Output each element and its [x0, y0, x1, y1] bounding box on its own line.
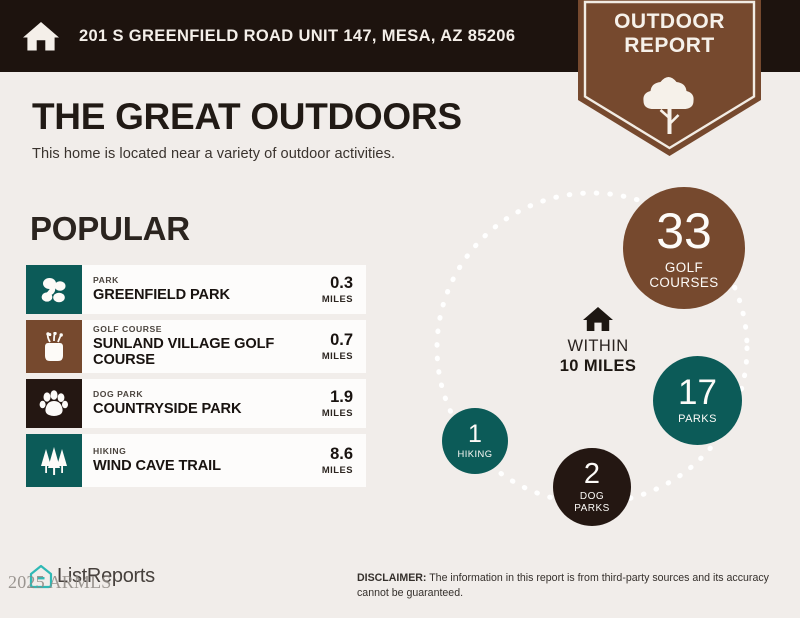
distance-unit: MILES [322, 350, 353, 361]
outdoor-report-badge: OUTDOOR REPORT [578, 0, 761, 156]
list-item-category: GOLF COURSE [93, 324, 300, 335]
list-item[interactable]: GOLF COURSE SUNLAND VILLAGE GOLF COURSE … [26, 320, 366, 373]
list-item-category: PARK [93, 275, 300, 286]
popular-list: PARK GREENFIELD PARK 0.3 MILES [26, 265, 366, 493]
trees-icon-tile [26, 434, 82, 487]
disclaimer: DISCLAIMER: The information in this repo… [357, 571, 777, 601]
bubble-parks[interactable]: 17 PARKS [653, 356, 742, 445]
list-item[interactable]: HIKING WIND CAVE TRAIL 8.6 MILES [26, 434, 366, 487]
list-item-distance: 8.6 MILES [300, 434, 366, 487]
bubble-label-line-1: GOLF [665, 260, 703, 275]
distance-unit: MILES [322, 293, 353, 304]
bubble-label-line-2: PARKS [574, 503, 609, 514]
park-icon [39, 276, 69, 304]
list-item-category: HIKING [93, 446, 300, 457]
list-item-distance: 1.9 MILES [300, 379, 366, 428]
distance-value: 8.6 [330, 446, 353, 463]
list-item-category: DOG PARK [93, 389, 300, 400]
paw-icon-tile [26, 379, 82, 428]
list-item-name: COUNTRYSIDE PARK [93, 401, 300, 417]
bubble-golf-courses[interactable]: 33 GOLF COURSES [623, 187, 745, 309]
list-item-text: GOLF COURSE SUNLAND VILLAGE GOLF COURSE [82, 320, 300, 373]
within-10-miles-chart: 33 GOLF COURSES 17 PARKS 2 DOG PARKS 1 H… [420, 175, 790, 545]
list-item[interactable]: PARK GREENFIELD PARK 0.3 MILES [26, 265, 366, 314]
bubble-label-line-1: PARKS [678, 413, 717, 425]
distance-value: 0.3 [330, 275, 353, 292]
list-item-distance: 0.7 MILES [300, 320, 366, 373]
list-item-name: GREENFIELD PARK [93, 287, 300, 303]
home-icon [582, 305, 614, 333]
page-title: THE GREAT OUTDOORS [32, 96, 462, 138]
center-label-line-1: WITHIN [567, 337, 628, 356]
bubble-value: 17 [678, 375, 717, 410]
list-item[interactable]: DOG PARK COUNTRYSIDE PARK 1.9 MILES [26, 379, 366, 428]
bubble-label-line-1: HIKING [458, 449, 493, 460]
bubble-value: 1 [468, 422, 482, 447]
page-subtitle: This home is located near a variety of o… [32, 146, 395, 162]
chart-center-label: WITHIN 10 MILES [538, 305, 658, 376]
golf-bag-icon-tile [26, 320, 82, 373]
list-item-text: PARK GREENFIELD PARK [82, 265, 300, 314]
list-item-name: SUNLAND VILLAGE GOLF COURSE [93, 336, 300, 369]
mls-watermark: 2025 ARMLS [8, 572, 112, 593]
golf-bag-icon [41, 332, 67, 362]
paw-icon [39, 390, 69, 418]
distance-unit: MILES [322, 464, 353, 475]
bubble-dog-parks[interactable]: 2 DOG PARKS [553, 448, 631, 526]
list-item-text: DOG PARK COUNTRYSIDE PARK [82, 379, 300, 428]
park-icon-tile [26, 265, 82, 314]
distance-value: 0.7 [330, 332, 353, 349]
center-label-line-2: 10 MILES [560, 357, 637, 376]
property-address: 201 S GREENFIELD ROAD UNIT 147, MESA, AZ… [79, 27, 515, 46]
bubble-value: 2 [584, 460, 600, 489]
bubble-label-line-2: COURSES [649, 275, 718, 290]
bubble-value: 33 [656, 206, 712, 256]
list-item-distance: 0.3 MILES [300, 265, 366, 314]
distance-value: 1.9 [330, 389, 353, 406]
bubble-label-line-1: DOG [580, 491, 604, 502]
distance-unit: MILES [322, 407, 353, 418]
bubble-hiking[interactable]: 1 HIKING [442, 408, 508, 474]
list-item-text: HIKING WIND CAVE TRAIL [82, 434, 300, 487]
trees-icon [38, 446, 70, 476]
home-icon [19, 14, 63, 58]
list-item-name: WIND CAVE TRAIL [93, 458, 300, 474]
disclaimer-label: DISCLAIMER: [357, 572, 426, 584]
popular-heading: POPULAR [30, 210, 190, 248]
